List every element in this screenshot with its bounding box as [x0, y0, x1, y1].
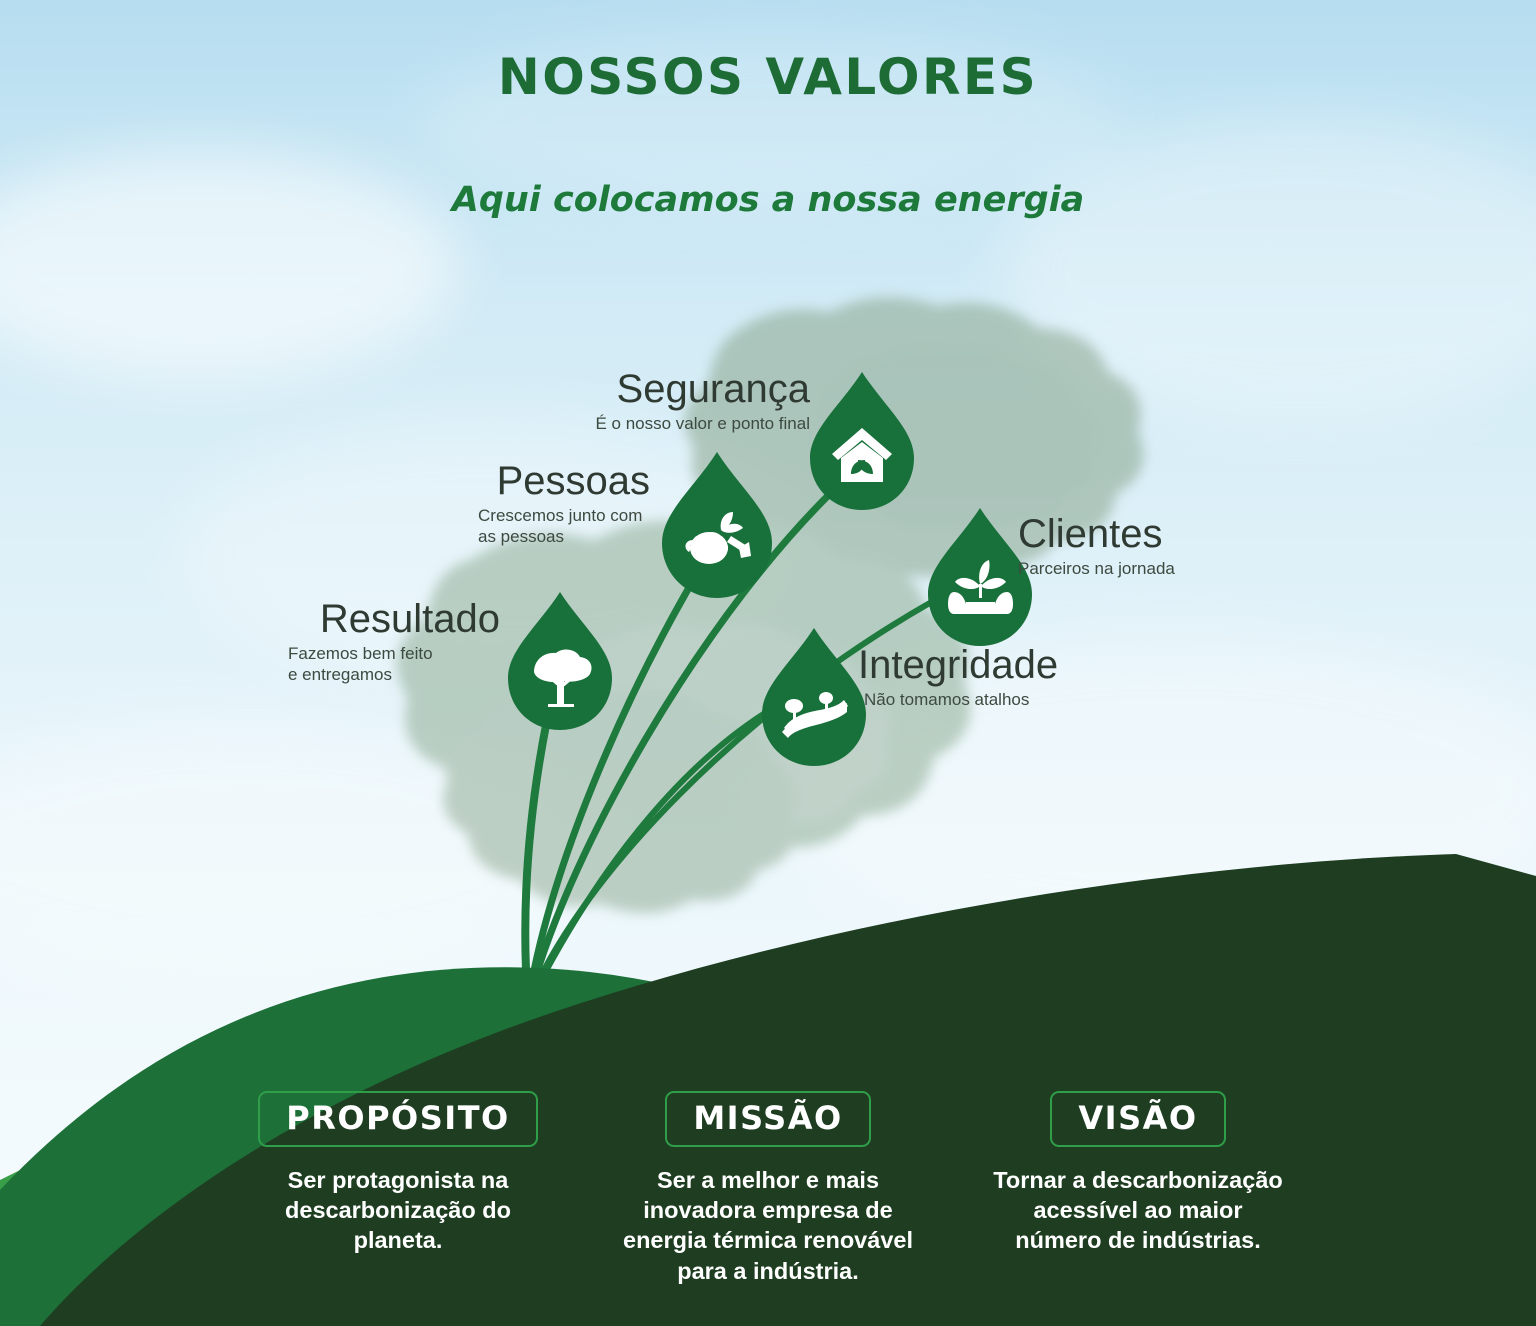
cards-row: PROPÓSITO Ser protagonista na descarboni…	[0, 1091, 1536, 1286]
card-badge-proposito[interactable]: PROPÓSITO	[258, 1091, 537, 1147]
value-subtitle-resultado-line2: e entregamos	[288, 664, 500, 685]
value-subtitle-clientes: Parceiros na jornada	[1018, 558, 1398, 579]
value-label-integridade: Integridade Não tomamos atalhos	[858, 644, 1278, 710]
card-text-visao: Tornar a descarbonização acessível ao ma…	[993, 1165, 1283, 1256]
infographic-canvas: NOSSOS VALORES Aqui colocamos a nossa en…	[0, 0, 1536, 1326]
card-missao: MISSÃO Ser a melhor e mais inovadora emp…	[623, 1091, 913, 1286]
value-subtitle-pessoas: Crescemos junto com as pessoas	[478, 505, 650, 548]
card-proposito: PROPÓSITO Ser protagonista na descarboni…	[253, 1091, 543, 1256]
card-visao: VISÃO Tornar a descarbonização acessível…	[993, 1091, 1283, 1256]
card-text-missao: Ser a melhor e mais inovadora empresa de…	[623, 1165, 913, 1286]
value-subtitle-resultado: Fazemos bem feito e entregamos	[288, 643, 500, 686]
card-text-proposito: Ser protagonista na descarbonização do p…	[253, 1165, 543, 1256]
card-badge-visao[interactable]: VISÃO	[1050, 1091, 1225, 1147]
value-label-pessoas: Pessoas Crescemos junto com as pessoas	[300, 460, 650, 548]
value-label-clientes: Clientes Parceiros na jornada	[1018, 513, 1398, 579]
value-subtitle-integridade-text: Não tomamos atalhos	[864, 690, 1029, 709]
value-subtitle-pessoas-line1: Crescemos junto com	[478, 505, 650, 526]
value-title-pessoas: Pessoas	[300, 460, 650, 502]
value-subtitle-pessoas-line2: as pessoas	[478, 526, 650, 547]
card-badge-missao[interactable]: MISSÃO	[665, 1091, 870, 1147]
value-label-resultado: Resultado Fazemos bem feito e entregamos	[130, 598, 500, 686]
value-title-resultado: Resultado	[130, 598, 500, 640]
value-title-integridade: Integridade	[858, 644, 1278, 686]
value-label-seguranca: Segurança É o nosso valor e ponto final	[420, 368, 810, 434]
value-title-clientes: Clientes	[1018, 513, 1398, 555]
value-subtitle-resultado-line1: Fazemos bem feito	[288, 643, 500, 664]
value-subtitle-integridade: Não tomamos atalhos	[858, 689, 1278, 710]
value-subtitle-seguranca: É o nosso valor e ponto final	[420, 413, 810, 434]
value-title-seguranca: Segurança	[420, 368, 810, 410]
